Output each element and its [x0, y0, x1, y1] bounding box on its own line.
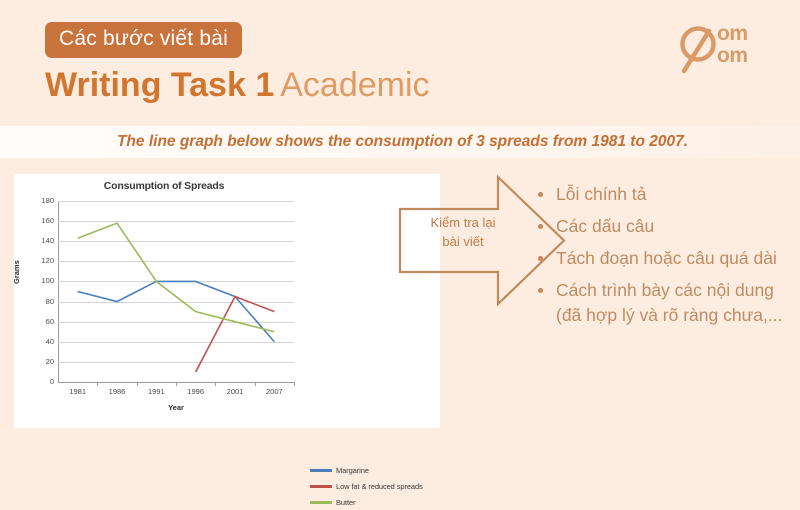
checklist-item: Tách đoạn hoặc câu quá dài: [538, 246, 790, 271]
y-tick-label: 120: [41, 257, 54, 265]
x-tick-mark: [176, 382, 177, 386]
chart-title: Consumption of Spreads: [14, 180, 314, 192]
x-tick-label: 1996: [176, 387, 216, 396]
checklist: Lỗi chính tảCác dấu câuTách đoạn hoặc câ…: [538, 182, 790, 335]
y-tick-label: 140: [41, 237, 54, 245]
x-tick-mark: [97, 382, 98, 386]
series-line-low-fat-reduced-spreads: [196, 297, 275, 372]
task-prompt-text: The line graph below shows the consumpti…: [30, 132, 775, 152]
y-axis-label: Grams: [12, 260, 21, 284]
y-tick-label: 160: [41, 217, 54, 225]
y-tick-label: 60: [46, 318, 54, 326]
logo-wordmark-bottom: om: [717, 45, 748, 67]
section-badge: Các bước viết bài: [45, 22, 242, 58]
chart-legend: MargarineLow fat & reduced spreadsButter: [310, 462, 423, 510]
logo-wordmark: om om: [717, 23, 748, 67]
bullet-dot-icon: [538, 288, 543, 293]
series-line-butter: [78, 223, 275, 332]
checklist-item-label: Cách trình bày các nội dung (đã hợp lý v…: [556, 278, 790, 328]
legend-label: Butter: [336, 498, 355, 507]
y-tick-label: 80: [46, 298, 54, 306]
x-axis-label: Year: [58, 403, 294, 412]
legend-swatch: [310, 485, 332, 488]
checklist-item: Các dấu câu: [538, 214, 790, 239]
bullet-dot-icon: [538, 256, 543, 261]
x-tick-label: 1991: [136, 387, 176, 396]
chart-series-lines: [58, 201, 294, 382]
legend-item: Butter: [310, 494, 423, 510]
x-tick-label: 2007: [254, 387, 294, 396]
checklist-item-label: Tách đoạn hoặc câu quá dài: [556, 246, 777, 271]
x-tick-mark: [215, 382, 216, 386]
checklist-item: Cách trình bày các nội dung (đã hợp lý v…: [538, 278, 790, 328]
y-tick-label: 40: [46, 338, 54, 346]
x-tick-mark: [255, 382, 256, 386]
bullet-dot-icon: [538, 224, 543, 229]
x-tick-label: 2001: [215, 387, 255, 396]
x-tick-mark: [294, 382, 295, 386]
legend-item: Low fat & reduced spreads: [310, 478, 423, 494]
y-tick-label: 180: [41, 197, 54, 205]
arrow-label-line2: bài viết: [408, 232, 518, 251]
page-title-light: Academic: [280, 66, 429, 104]
legend-swatch: [310, 469, 332, 472]
logo-wordmark-top: om: [717, 23, 748, 45]
x-tick-mark: [137, 382, 138, 386]
arrow-label-line1: Kiểm tra lại: [408, 213, 518, 232]
chart-card: Consumption of Spreads 02040608010012014…: [14, 174, 440, 428]
legend-item: Margarine: [310, 462, 423, 478]
x-tick-label: 1986: [97, 387, 137, 396]
series-line-margarine: [78, 281, 275, 341]
y-tick-label: 20: [46, 358, 54, 366]
arrow-label: Kiểm tra lại bài viết: [408, 213, 518, 251]
page-title: Writing Task 1Academic: [45, 64, 430, 106]
checklist-item-label: Các dấu câu: [556, 214, 654, 239]
legend-swatch: [310, 501, 332, 504]
y-tick-label: 100: [41, 277, 54, 285]
checklist-item-label: Lỗi chính tả: [556, 182, 646, 207]
bullet-dot-icon: [538, 192, 543, 197]
page-title-strong: Writing Task 1: [45, 66, 274, 104]
y-tick-label: 0: [50, 378, 54, 386]
checklist-item: Lỗi chính tả: [538, 182, 790, 207]
brand-logo: om om: [678, 22, 784, 84]
x-tick-label: 1981: [58, 387, 98, 396]
legend-label: Margarine: [336, 466, 369, 475]
header-banner: Các bước viết bài Writing Task 1Academic…: [0, 0, 800, 125]
legend-label: Low fat & reduced spreads: [336, 482, 423, 491]
